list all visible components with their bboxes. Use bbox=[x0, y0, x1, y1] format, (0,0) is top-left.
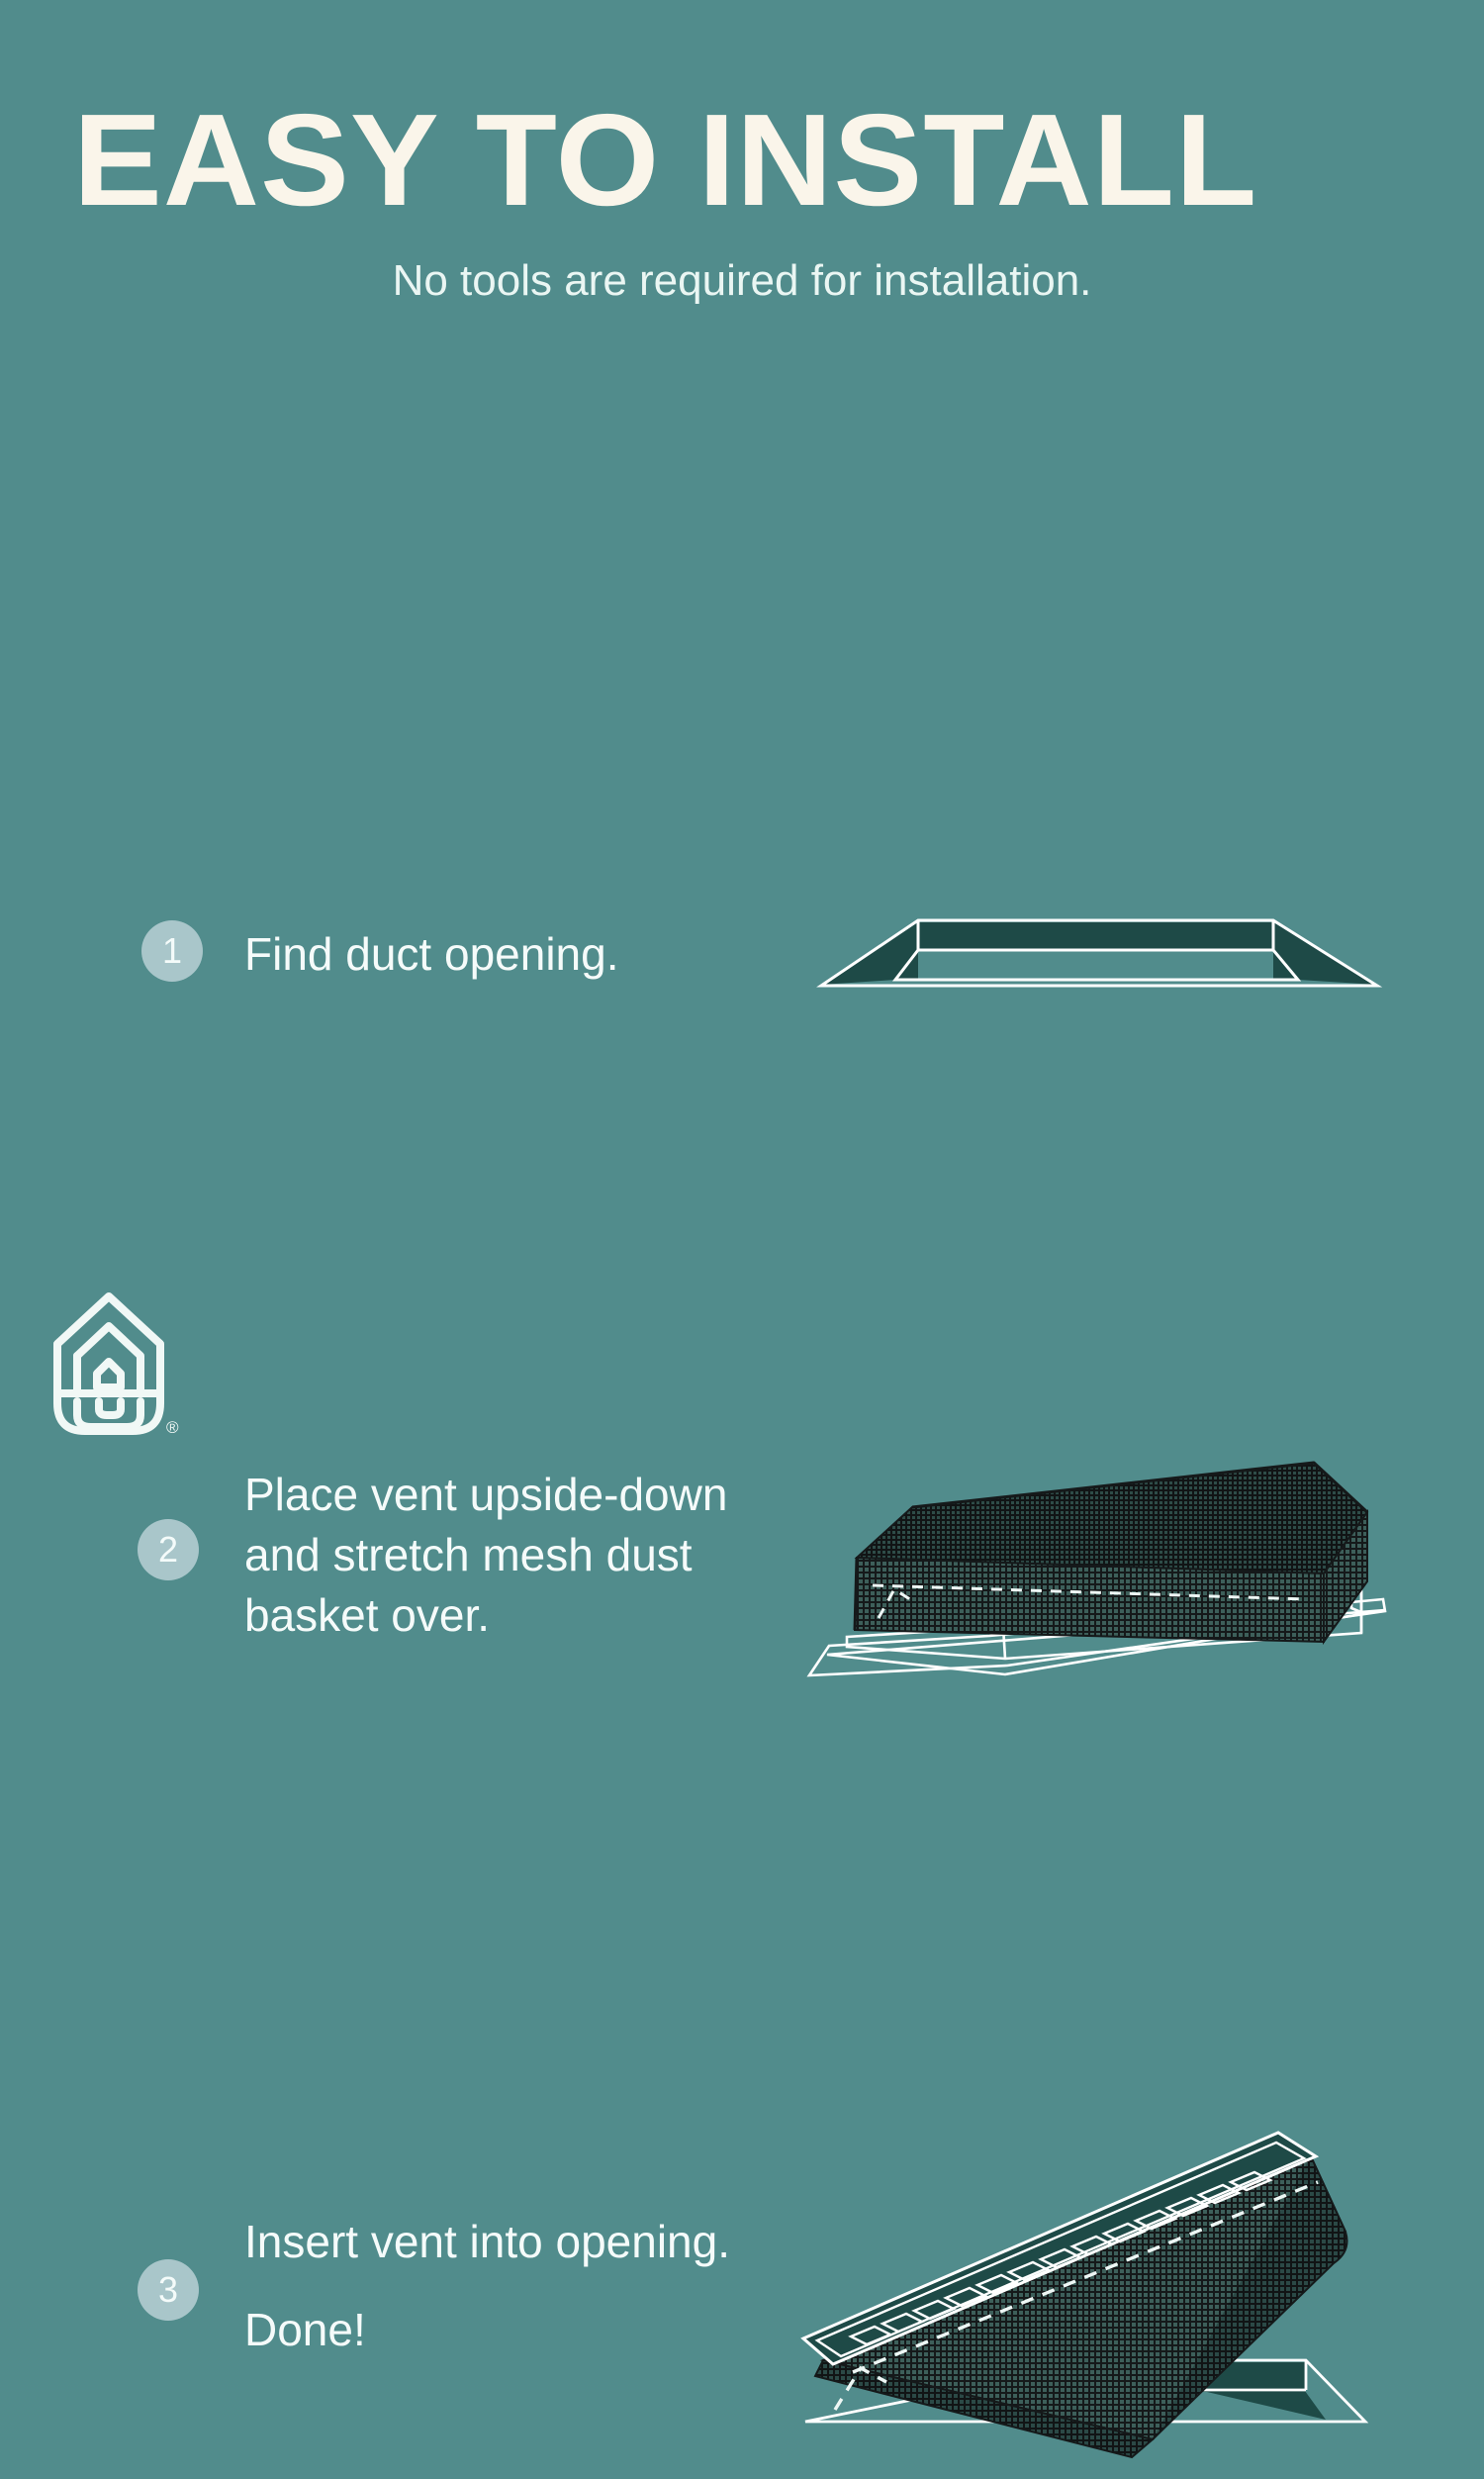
logo-core-arch bbox=[97, 1362, 121, 1387]
step-row-2: 2 Place vent upside-down and stretch mes… bbox=[0, 713, 1484, 990]
registered-mark: ® bbox=[166, 1418, 179, 1437]
page-subtitle: No tools are required for installation. bbox=[0, 255, 1484, 307]
mesh-basket-front-face bbox=[855, 1558, 1324, 1642]
step-row-1: 1 Find duct opening. bbox=[0, 445, 1484, 614]
step-badge-3: 3 bbox=[138, 2259, 199, 2321]
mesh-basket-over-vent-illustration bbox=[791, 1405, 1405, 1702]
step-label-3: Insert vent into opening. Done! bbox=[244, 2212, 818, 2360]
step-line: and stretch mesh dust bbox=[244, 1525, 818, 1585]
step-row-3: 3 Insert vent into opening. Done! bbox=[0, 1064, 1484, 1410]
step-label-2: Place vent upside-down and stretch mesh … bbox=[244, 1465, 818, 1646]
page-title: EASY TO INSTALL bbox=[73, 95, 1445, 226]
mesh-basket-top-face bbox=[857, 1463, 1367, 1573]
step-badge-2: 2 bbox=[138, 1519, 199, 1580]
step-line: Insert vent into opening. bbox=[244, 2212, 818, 2272]
step-line: basket over. bbox=[244, 1585, 818, 1646]
logo-drawer-inner-u bbox=[99, 1401, 121, 1415]
vent-inserted-into-opening-illustration bbox=[791, 2113, 1405, 2479]
step-line: Place vent upside-down bbox=[244, 1465, 818, 1525]
nested-house-logo: ® bbox=[44, 1283, 182, 1451]
step-line: Done! bbox=[244, 2300, 818, 2360]
line-gap bbox=[244, 2272, 818, 2300]
